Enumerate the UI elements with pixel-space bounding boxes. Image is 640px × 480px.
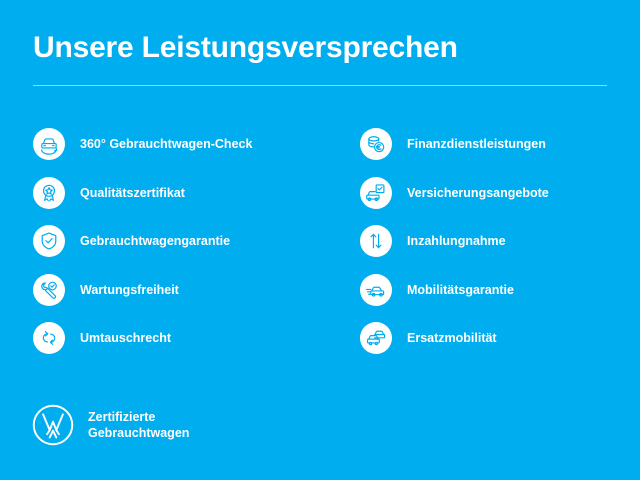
benefit-label: Mobilitätsgarantie xyxy=(407,282,514,298)
exchange-arrows-icon xyxy=(33,322,65,354)
car-360-check-icon xyxy=(33,128,65,160)
benefit-label: Qualitätszertifikat xyxy=(80,185,185,201)
two-cars-icon xyxy=(360,322,392,354)
coins-euro-icon xyxy=(360,128,392,160)
benefit-item-inzahlungnahme[interactable]: Inzahlungnahme xyxy=(360,217,640,266)
benefit-label: Versicherungsangebote xyxy=(407,185,549,201)
benefit-item-ersatzmobilitaet[interactable]: Ersatzmobilität xyxy=(360,314,640,363)
benefit-label: Inzahlungnahme xyxy=(407,233,506,249)
brand-text: Zertifizierte Gebrauchtwagen xyxy=(88,409,189,441)
benefit-label: Gebrauchtwagengarantie xyxy=(80,233,230,249)
header: Unsere Leistungsversprechen xyxy=(33,30,607,86)
volkswagen-logo-icon xyxy=(31,403,75,447)
benefit-item-umtauschrecht[interactable]: Umtauschrecht xyxy=(33,314,328,363)
quality-award-icon xyxy=(33,177,65,209)
car-motion-icon xyxy=(360,274,392,306)
wrench-check-icon xyxy=(33,274,65,306)
benefit-item-mobilitaetsgarantie[interactable]: Mobilitätsgarantie xyxy=(360,266,640,315)
car-document-icon xyxy=(360,177,392,209)
brand-line-2: Gebrauchtwagen xyxy=(88,425,189,441)
brand-line-1: Zertifizierte xyxy=(88,409,189,425)
benefit-label: Ersatzmobilität xyxy=(407,330,497,346)
page-title: Unsere Leistungsversprechen xyxy=(33,30,607,66)
benefit-label: Finanzdienstleistungen xyxy=(407,136,546,152)
brand-lockup: Zertifizierte Gebrauchtwagen xyxy=(31,403,189,447)
promise-panel: Unsere Leistungsversprechen 360° Gebrauc xyxy=(0,0,640,480)
benefits-column-right: Finanzdienstleistungen Versicherungsange… xyxy=(360,120,640,363)
benefit-item-wartungsfreiheit[interactable]: Wartungsfreiheit xyxy=(33,266,328,315)
benefit-item-gebrauchtwagengarantie[interactable]: Gebrauchtwagengarantie xyxy=(33,217,328,266)
benefits-column-left: 360° Gebrauchtwagen-Check Qualitätszerti… xyxy=(33,120,328,363)
benefit-label: Umtauschrecht xyxy=(80,330,171,346)
up-down-arrows-icon xyxy=(360,225,392,257)
benefit-item-versicherungsangebote[interactable]: Versicherungsangebote xyxy=(360,169,640,218)
benefit-item-finanzdienstleistungen[interactable]: Finanzdienstleistungen xyxy=(360,120,640,169)
benefit-label: 360° Gebrauchtwagen-Check xyxy=(80,136,252,152)
title-divider xyxy=(33,85,607,86)
benefit-item-gebrauchtwagen-check[interactable]: 360° Gebrauchtwagen-Check xyxy=(33,120,328,169)
benefits-grid: 360° Gebrauchtwagen-Check Qualitätszerti… xyxy=(0,120,640,363)
benefit-item-qualitaetszertifikat[interactable]: Qualitätszertifikat xyxy=(33,169,328,218)
shield-check-icon xyxy=(33,225,65,257)
benefit-label: Wartungsfreiheit xyxy=(80,282,179,298)
